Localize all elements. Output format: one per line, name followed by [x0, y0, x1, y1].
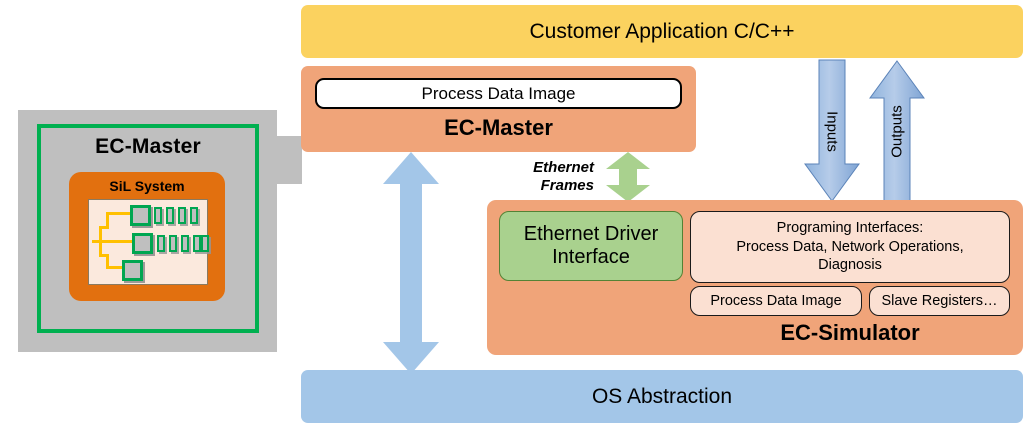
ethernet-driver-line1: Ethernet Driver	[524, 223, 659, 246]
sil-master-node	[122, 260, 143, 281]
inputs-arrow-label: Inputs	[824, 104, 841, 160]
customer-application-block[interactable]: Customer Application C/C++	[301, 5, 1023, 58]
network-line-branch-1-h	[106, 212, 132, 215]
os-abstraction-block[interactable]: OS Abstraction	[301, 370, 1023, 423]
programming-interfaces-line3: Diagnosis	[818, 256, 882, 275]
sil-system-card: SiL System	[69, 172, 225, 301]
sil-slave-node	[201, 235, 209, 252]
programming-interfaces-line1: Programing Interfaces:	[777, 219, 924, 238]
sil-network-panel	[88, 199, 208, 285]
diagram-canvas: EC-Master SiL System	[0, 0, 1029, 431]
ethernet-frames-line2: Frames	[468, 177, 594, 195]
outputs-arrow-label: Outputs	[889, 104, 906, 160]
ec-master-title: EC-Master	[301, 115, 696, 141]
ec-master-os-link-arrow	[379, 152, 443, 374]
ec-master-process-data-image[interactable]: Process Data Image	[315, 78, 682, 109]
sil-master-node	[132, 233, 153, 254]
ec-simulator-slave-registers[interactable]: Slave Registers…	[869, 286, 1010, 316]
sil-slave-node	[181, 235, 189, 252]
sil-slave-node	[169, 235, 177, 252]
sil-slave-node	[193, 235, 201, 252]
sil-system-title: SiL System	[69, 176, 225, 196]
sil-slave-node	[157, 235, 165, 252]
ethernet-frames-line1: Ethernet	[468, 159, 594, 177]
sil-slave-node	[190, 207, 198, 224]
sil-slave-node	[178, 207, 186, 224]
network-line-branch-2-h	[99, 240, 133, 243]
programming-interfaces-box[interactable]: Programing Interfaces: Process Data, Net…	[690, 211, 1010, 283]
ec-simulator-title: EC-Simulator	[690, 320, 1010, 346]
ethernet-frames-label: Ethernet Frames	[468, 159, 594, 194]
sil-slave-node	[154, 207, 162, 224]
programming-interfaces-line2: Process Data, Network Operations,	[736, 238, 963, 257]
ec-simulator-block[interactable]: Ethernet Driver Interface Programing Int…	[487, 200, 1023, 355]
network-line-branch-1-join	[99, 226, 109, 229]
ec-master-block[interactable]: Process Data Image EC-Master	[301, 66, 696, 152]
network-line-branch-3-join	[99, 254, 109, 257]
ethernet-frames-arrow-icon	[604, 152, 652, 202]
ethernet-driver-interface-box[interactable]: Ethernet Driver Interface	[499, 211, 683, 281]
sil-panel-title: EC-Master	[37, 130, 259, 164]
sil-master-node	[130, 205, 151, 226]
sil-slave-node	[166, 207, 174, 224]
ethernet-driver-line2: Interface	[552, 246, 630, 269]
ec-simulator-process-data-image[interactable]: Process Data Image	[690, 286, 862, 316]
